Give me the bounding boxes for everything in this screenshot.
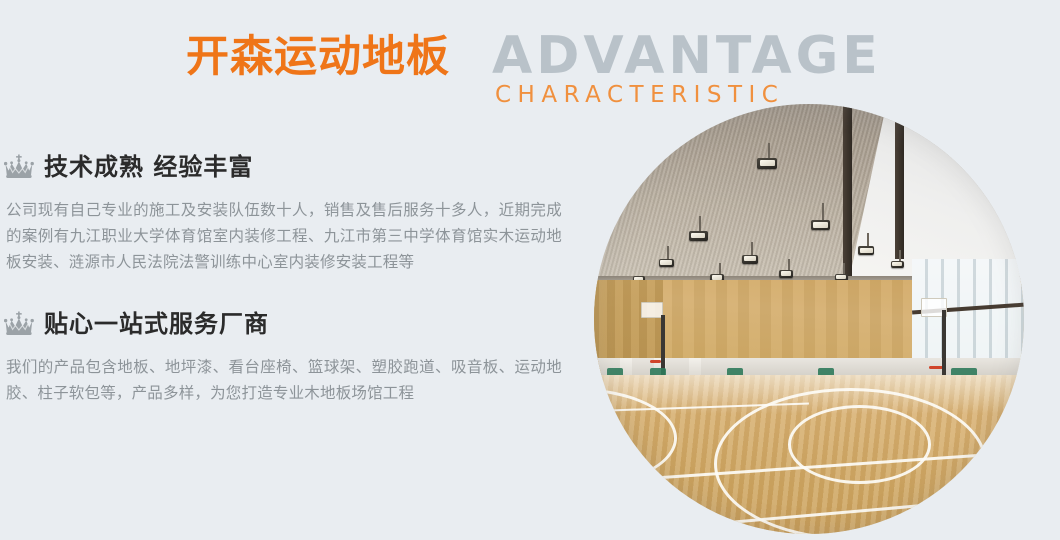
ceiling-column [895,104,904,259]
feature-block: 贴心一站式服务厂商 我们的产品包含地板、地坪漆、看台座椅、篮球架、塑胶跑道、吸音… [0,307,578,406]
advantage-banner: ADVANTAGE CHARACTERISTIC 开森运动地板 技 [0,0,1060,540]
ceiling-lamp [779,270,793,278]
feature-body: 公司现有自己专业的施工及安装队伍数十人，销售及售后服务十多人，近期完成的案例有九… [6,197,562,275]
gym-interior-illustration [594,104,1024,534]
banner-header: ADVANTAGE CHARACTERISTIC 开森运动地板 [0,0,1060,120]
ceiling-lamp [811,220,830,230]
headline-chinese: 开森运动地板 [186,36,450,79]
feature-heading: 技术成熟 经验丰富 [4,150,578,184]
basketball-court-photo [594,104,1024,534]
feature-heading: 贴心一站式服务厂商 [4,307,578,341]
feature-list: 技术成熟 经验丰富 公司现有自己专业的施工及安装队伍数十人，销售及售后服务十多人… [0,150,578,406]
court-key-arc [788,405,932,484]
hoop-rim [929,366,943,369]
feature-body: 我们的产品包含地板、地坪漆、看台座椅、篮球架、塑胶跑道、吸音板、运动地胶、柱子软… [6,354,562,406]
ceiling-lamp [757,158,777,169]
subheadline-english: CHARACTERISTIC [495,84,784,107]
ceiling-lamp [742,255,758,264]
feature-title: 技术成熟 经验丰富 [44,155,253,179]
hoop-rim [650,360,661,363]
crown-icon [4,154,34,180]
ceiling-lamp [659,259,674,267]
crown-icon [4,311,34,337]
ceiling-lamp [891,261,904,268]
ceiling-lamp [858,246,874,255]
ceiling-column [843,104,852,276]
headline-english: ADVANTAGE [492,30,882,82]
ceiling-lamp [689,231,708,241]
feature-block: 技术成熟 经验丰富 公司现有自己专业的施工及安装队伍数十人，销售及售后服务十多人… [0,150,578,275]
feature-title: 贴心一站式服务厂商 [44,312,269,336]
